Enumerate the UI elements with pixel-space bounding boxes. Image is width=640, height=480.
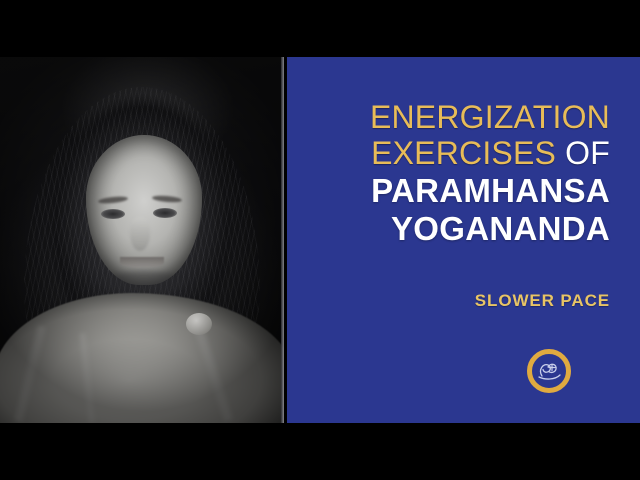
portrait-photo xyxy=(0,57,284,423)
portrait-eye-left xyxy=(101,209,125,219)
title-word-of: OF xyxy=(556,135,610,171)
title-line-exercises-of: EXERCISES OF xyxy=(370,137,610,169)
content-band: ENERGIZATION EXERCISES OF PARAMHANSA YOG… xyxy=(0,57,640,423)
subtitle-slower-pace: SLOWER PACE xyxy=(475,291,610,311)
video-thumbnail-frame: ENERGIZATION EXERCISES OF PARAMHANSA YOG… xyxy=(0,0,640,480)
ananda-ring-icon xyxy=(525,347,573,395)
title-line-paramhansa: PARAMHANSA xyxy=(370,174,610,207)
title-block: ENERGIZATION EXERCISES OF PARAMHANSA YOG… xyxy=(370,101,610,245)
title-line-energization: ENERGIZATION xyxy=(370,101,610,133)
portrait-robe-knot xyxy=(186,313,212,335)
portrait-chin-shadow xyxy=(104,271,184,295)
title-line-yogananda: YOGANANDA xyxy=(370,212,610,245)
portrait-edge-highlight xyxy=(281,57,284,423)
portrait-mouth xyxy=(120,257,164,268)
portrait-eye-right xyxy=(153,208,177,218)
letterbox-top xyxy=(0,0,640,57)
title-panel: ENERGIZATION EXERCISES OF PARAMHANSA YOG… xyxy=(287,57,640,423)
letterbox-bottom xyxy=(0,423,640,480)
title-word-exercises: EXERCISES xyxy=(371,135,556,171)
portrait-nose xyxy=(130,217,150,251)
